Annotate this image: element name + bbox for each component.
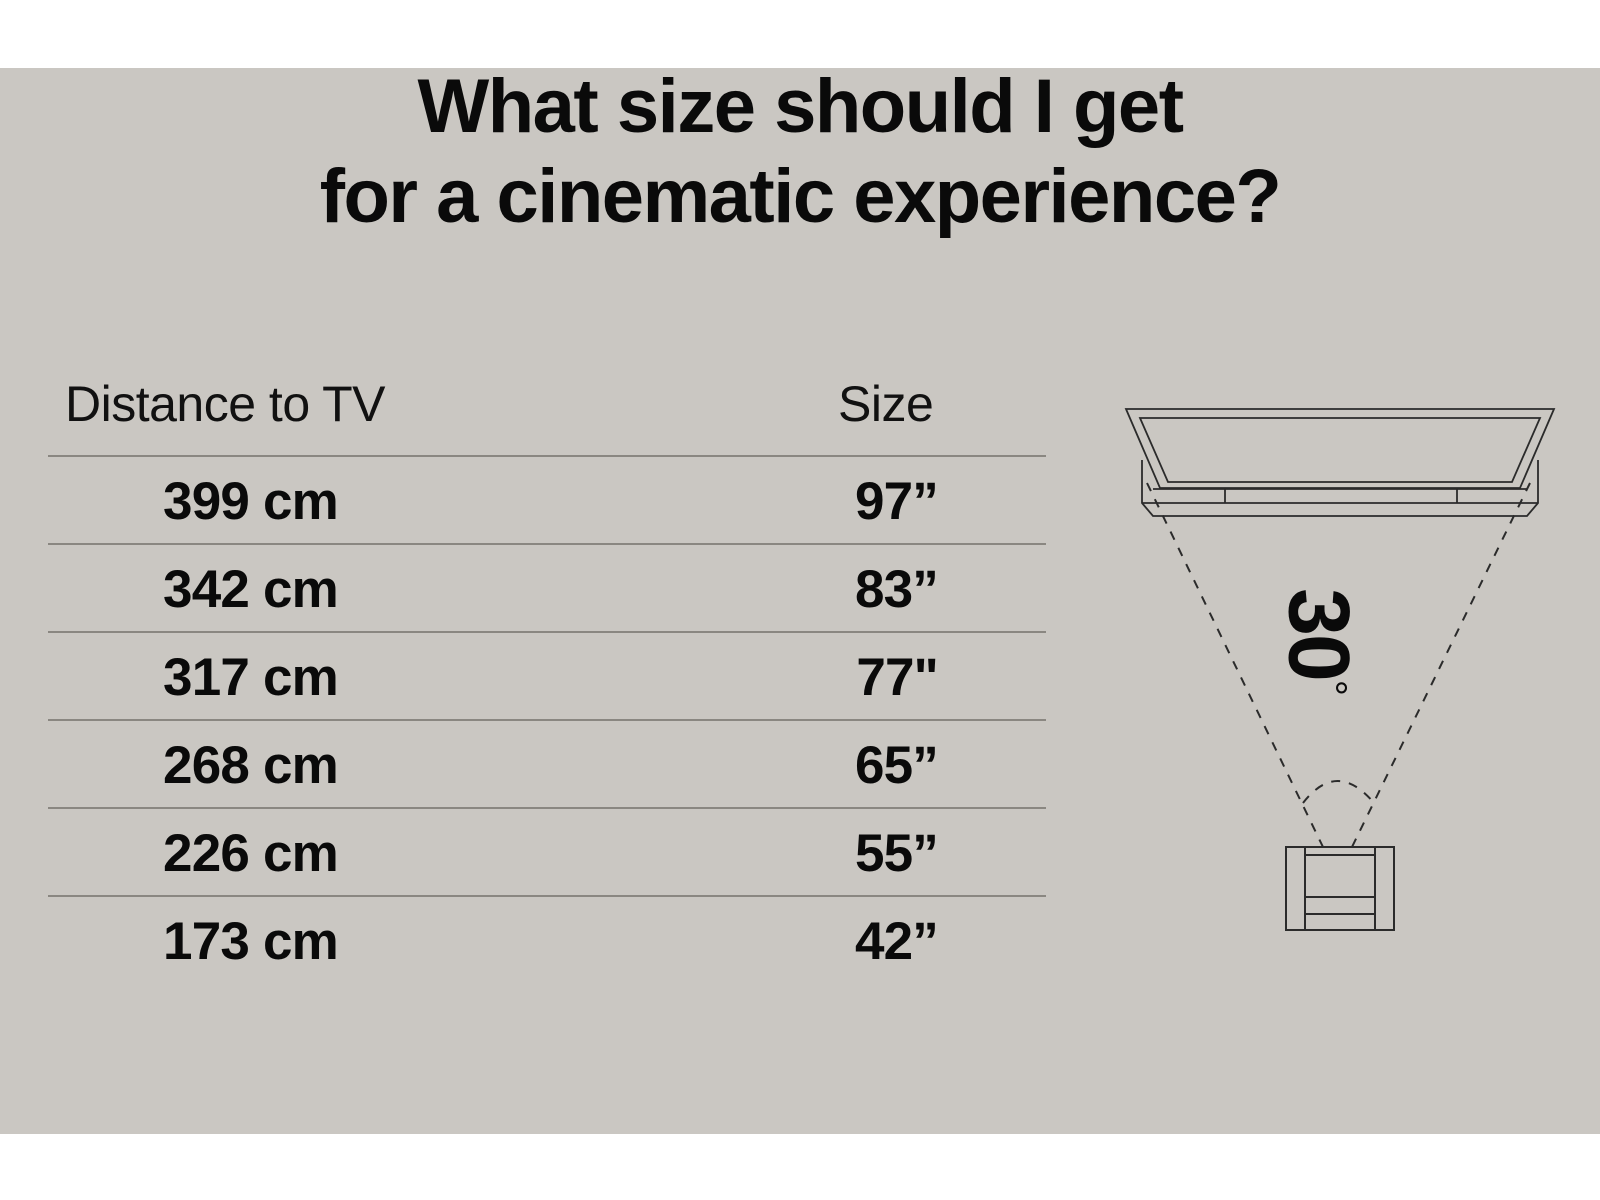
infographic-root: What size should I get for a cinematic e… [0, 0, 1600, 1200]
page-title-line-2: for a cinematic experience? [0, 152, 1600, 242]
angle-arc-icon [1303, 781, 1374, 803]
cell-size: 83” [855, 559, 938, 620]
cell-distance: 317 cm [163, 647, 338, 708]
cell-size: 42” [855, 911, 938, 972]
cell-distance: 268 cm [163, 735, 338, 796]
degree-symbol-icon: ° [1310, 680, 1354, 694]
cell-distance: 173 cm [163, 911, 338, 972]
cell-size: 55” [855, 823, 938, 884]
table-row: 173 cm 42” [48, 897, 1046, 983]
table-row: 268 cm 65” [48, 721, 1046, 807]
armchair-top-view-icon [1286, 847, 1394, 930]
cell-distance: 342 cm [163, 559, 338, 620]
table-row: 399 cm 97” [48, 457, 1046, 543]
page-title-line-1: What size should I get [0, 62, 1600, 152]
viewing-angle-diagram [1090, 385, 1570, 1025]
cell-size: 65” [855, 735, 938, 796]
page-title: What size should I get for a cinematic e… [0, 62, 1600, 241]
cell-size: 77" [856, 647, 938, 708]
cell-size: 97” [855, 471, 938, 532]
viewing-angle-value: 30 [1270, 588, 1366, 680]
tv-top-view-icon [1126, 409, 1554, 516]
table-row: 342 cm 83” [48, 545, 1046, 631]
cell-distance: 226 cm [163, 823, 338, 884]
column-header-distance: Distance to TV [65, 375, 385, 433]
viewing-angle-label: 30° [1247, 581, 1417, 701]
column-header-size: Size [838, 375, 933, 433]
table-row: 317 cm 77" [48, 633, 1046, 719]
distance-size-table: Distance to TV Size 399 cm 97” 342 cm 83… [48, 375, 1046, 983]
cell-distance: 399 cm [163, 471, 338, 532]
table-header-row: Distance to TV Size [48, 375, 1046, 455]
table-row: 226 cm 55” [48, 809, 1046, 895]
